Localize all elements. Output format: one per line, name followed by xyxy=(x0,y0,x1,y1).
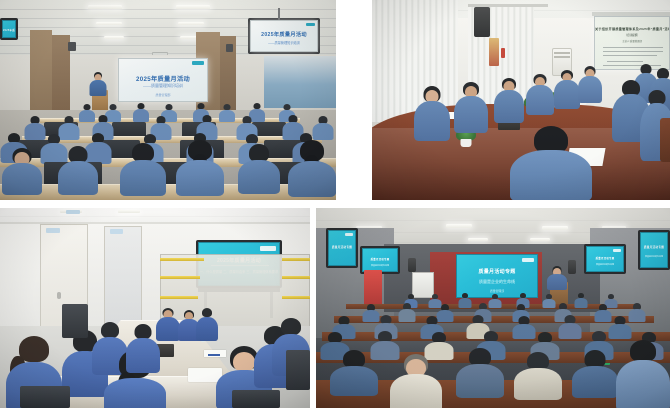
attendee-front xyxy=(238,144,280,192)
attendee xyxy=(574,293,588,306)
wall-speaker xyxy=(226,44,233,52)
side-monitor-subtitle: 质量是企业的生命线 xyxy=(641,255,667,258)
panel-top-right-conference-room: 关于组织开展质量管理体系及2025年“质量月”活动的通知 培训提纲 主讲人:质量… xyxy=(372,0,670,200)
ceiling-light xyxy=(104,36,124,39)
attendee xyxy=(132,103,149,120)
slide-logo xyxy=(192,61,204,65)
wall-marker xyxy=(501,48,505,58)
office-chair xyxy=(20,386,70,408)
right-wall-panel xyxy=(264,56,336,108)
attendee xyxy=(554,70,580,108)
ceiling-light xyxy=(468,238,488,241)
attendee-front xyxy=(456,348,504,394)
side-monitor-title: 质量月活动专题 xyxy=(587,256,623,260)
tv-mount-arm xyxy=(278,8,280,20)
attendee xyxy=(398,303,416,320)
slide-doc-title: 关于组织开展质量管理体系及2025年“质量月”活动的通知 xyxy=(595,26,669,31)
attendee-front xyxy=(2,148,42,192)
side-monitor-title: 质量月活动专题 xyxy=(363,257,397,261)
side-monitor-title: 质量月活动专题 xyxy=(329,245,355,249)
ceiling-light xyxy=(176,5,210,9)
tv-right-subtitle: ——质量管理知识培训 xyxy=(251,40,317,45)
ceiling-light xyxy=(530,238,550,241)
ac-vent xyxy=(554,52,570,54)
wall-poster xyxy=(489,38,499,66)
attendee xyxy=(578,66,602,102)
shelf-rail xyxy=(282,276,310,279)
door-sign xyxy=(46,228,60,233)
ceiling-light xyxy=(446,224,472,228)
wall-poster xyxy=(364,270,382,306)
wall-speaker xyxy=(408,258,416,272)
attendee xyxy=(218,104,235,120)
tv-monitor-left: 2025年质量月活动 xyxy=(0,18,18,40)
shelf-rail xyxy=(160,258,204,261)
projection-screen: 关于组织开展质量管理体系及2025年“质量月”活动的通知 培训提纲 主讲人:质量… xyxy=(594,16,670,70)
shelf-rail xyxy=(160,276,200,279)
slide-footer: 质量管理部 xyxy=(119,93,207,97)
attendee xyxy=(526,74,554,114)
wall-speaker xyxy=(474,7,490,37)
office-chair xyxy=(232,390,280,408)
side-monitor: 质量月活动专题 xyxy=(326,228,358,268)
screen-roller xyxy=(592,12,670,16)
shelf-rail xyxy=(282,296,310,299)
presenter xyxy=(546,266,568,290)
attendee xyxy=(126,324,160,372)
panel-bottom-right-auditorium: 质量月活动专题 质量是企业的生命线 质量管理部 质量月活动专题 质量月活动专题 … xyxy=(316,208,670,408)
attendee-front xyxy=(58,146,98,192)
ceiling-light xyxy=(542,226,568,230)
tv-left-title: 2025年质量月活动 xyxy=(3,28,15,32)
panel-bottom-left-small-meeting-room: 2025年质量月活动 一、什么是质量 二、质量月由来 三、质量管理体系要求 xyxy=(0,208,310,408)
attendee-front xyxy=(120,143,166,193)
tv-right-title: 2025年质量月活动 xyxy=(251,31,317,38)
main-projection-screen: 质量月活动专题 质量是企业的生命线 质量管理部 xyxy=(456,254,538,298)
ceiling-light xyxy=(88,5,122,9)
slide-title: 2025年质量月活动 xyxy=(119,74,207,83)
office-chair xyxy=(62,304,88,338)
ceiling-light xyxy=(118,210,140,213)
slide-doc-subtitle: 培训提纲 xyxy=(595,33,669,37)
tv-monitor-right: 2025年质量月活动 ——质量管理知识培训 xyxy=(248,18,320,54)
ceiling-light xyxy=(96,22,122,25)
side-monitor-subtitle: 质量是企业的生命线 xyxy=(363,264,397,267)
projection-screen: 2025年质量月活动 ——质量管理知识培训 质量管理部 xyxy=(118,58,208,102)
attendee-front xyxy=(330,350,378,392)
attendee-front-ponytail xyxy=(288,140,336,194)
attendee-front xyxy=(390,354,442,408)
attendee xyxy=(494,78,524,122)
slide-logo xyxy=(522,258,534,262)
attendee-foreground xyxy=(510,126,592,200)
main-slide-title: 质量月活动专题 xyxy=(457,268,537,275)
door-handle xyxy=(57,292,61,299)
ceiling-light xyxy=(178,22,204,25)
wall-speaker xyxy=(568,260,576,274)
shelf-rail xyxy=(282,258,310,261)
office-chair xyxy=(660,118,670,162)
slide-doc-byline: 主讲人:质量管理部 xyxy=(595,39,669,43)
desk-row-front xyxy=(0,184,336,200)
ac-vent xyxy=(554,56,570,58)
room-door xyxy=(104,226,142,326)
side-monitor: 质量月活动专题 质量是企业的生命线 xyxy=(584,244,626,274)
side-monitor-subtitle: 质量是企业的生命线 xyxy=(587,263,623,266)
attendee-front xyxy=(514,352,562,396)
door-sign xyxy=(66,210,80,214)
office-chair xyxy=(286,350,310,390)
shelf-rail xyxy=(160,296,198,299)
attendee-far xyxy=(196,308,218,340)
attendee-front-ponytail xyxy=(176,140,224,194)
attendee-front xyxy=(616,340,670,408)
display-logo xyxy=(260,246,276,251)
photo-collage: 2025年质量月活动 ——质量管理知识培训 质量管理部 2025年质量月活动 2… xyxy=(0,0,670,408)
attendee xyxy=(558,315,582,336)
attendee xyxy=(458,293,472,306)
panel-top-left-lecture-hall: 2025年质量月活动 ——质量管理知识培训 质量管理部 2025年质量月活动 2… xyxy=(0,0,336,200)
door-sign xyxy=(110,229,123,234)
attendee xyxy=(454,82,488,132)
wall-column xyxy=(30,30,52,115)
wall-speaker xyxy=(68,42,76,51)
side-monitor: 质量月活动专题 质量是企业的生命线 xyxy=(638,230,670,270)
side-monitor-title: 质量月活动专题 xyxy=(641,245,667,249)
main-slide-subtitle: 质量是企业的生命线 xyxy=(457,279,537,285)
presenter xyxy=(88,72,108,98)
attendee-front xyxy=(572,350,618,394)
attendee-woman xyxy=(414,86,450,140)
slide-subtitle: ——质量管理知识培训 xyxy=(119,83,207,89)
